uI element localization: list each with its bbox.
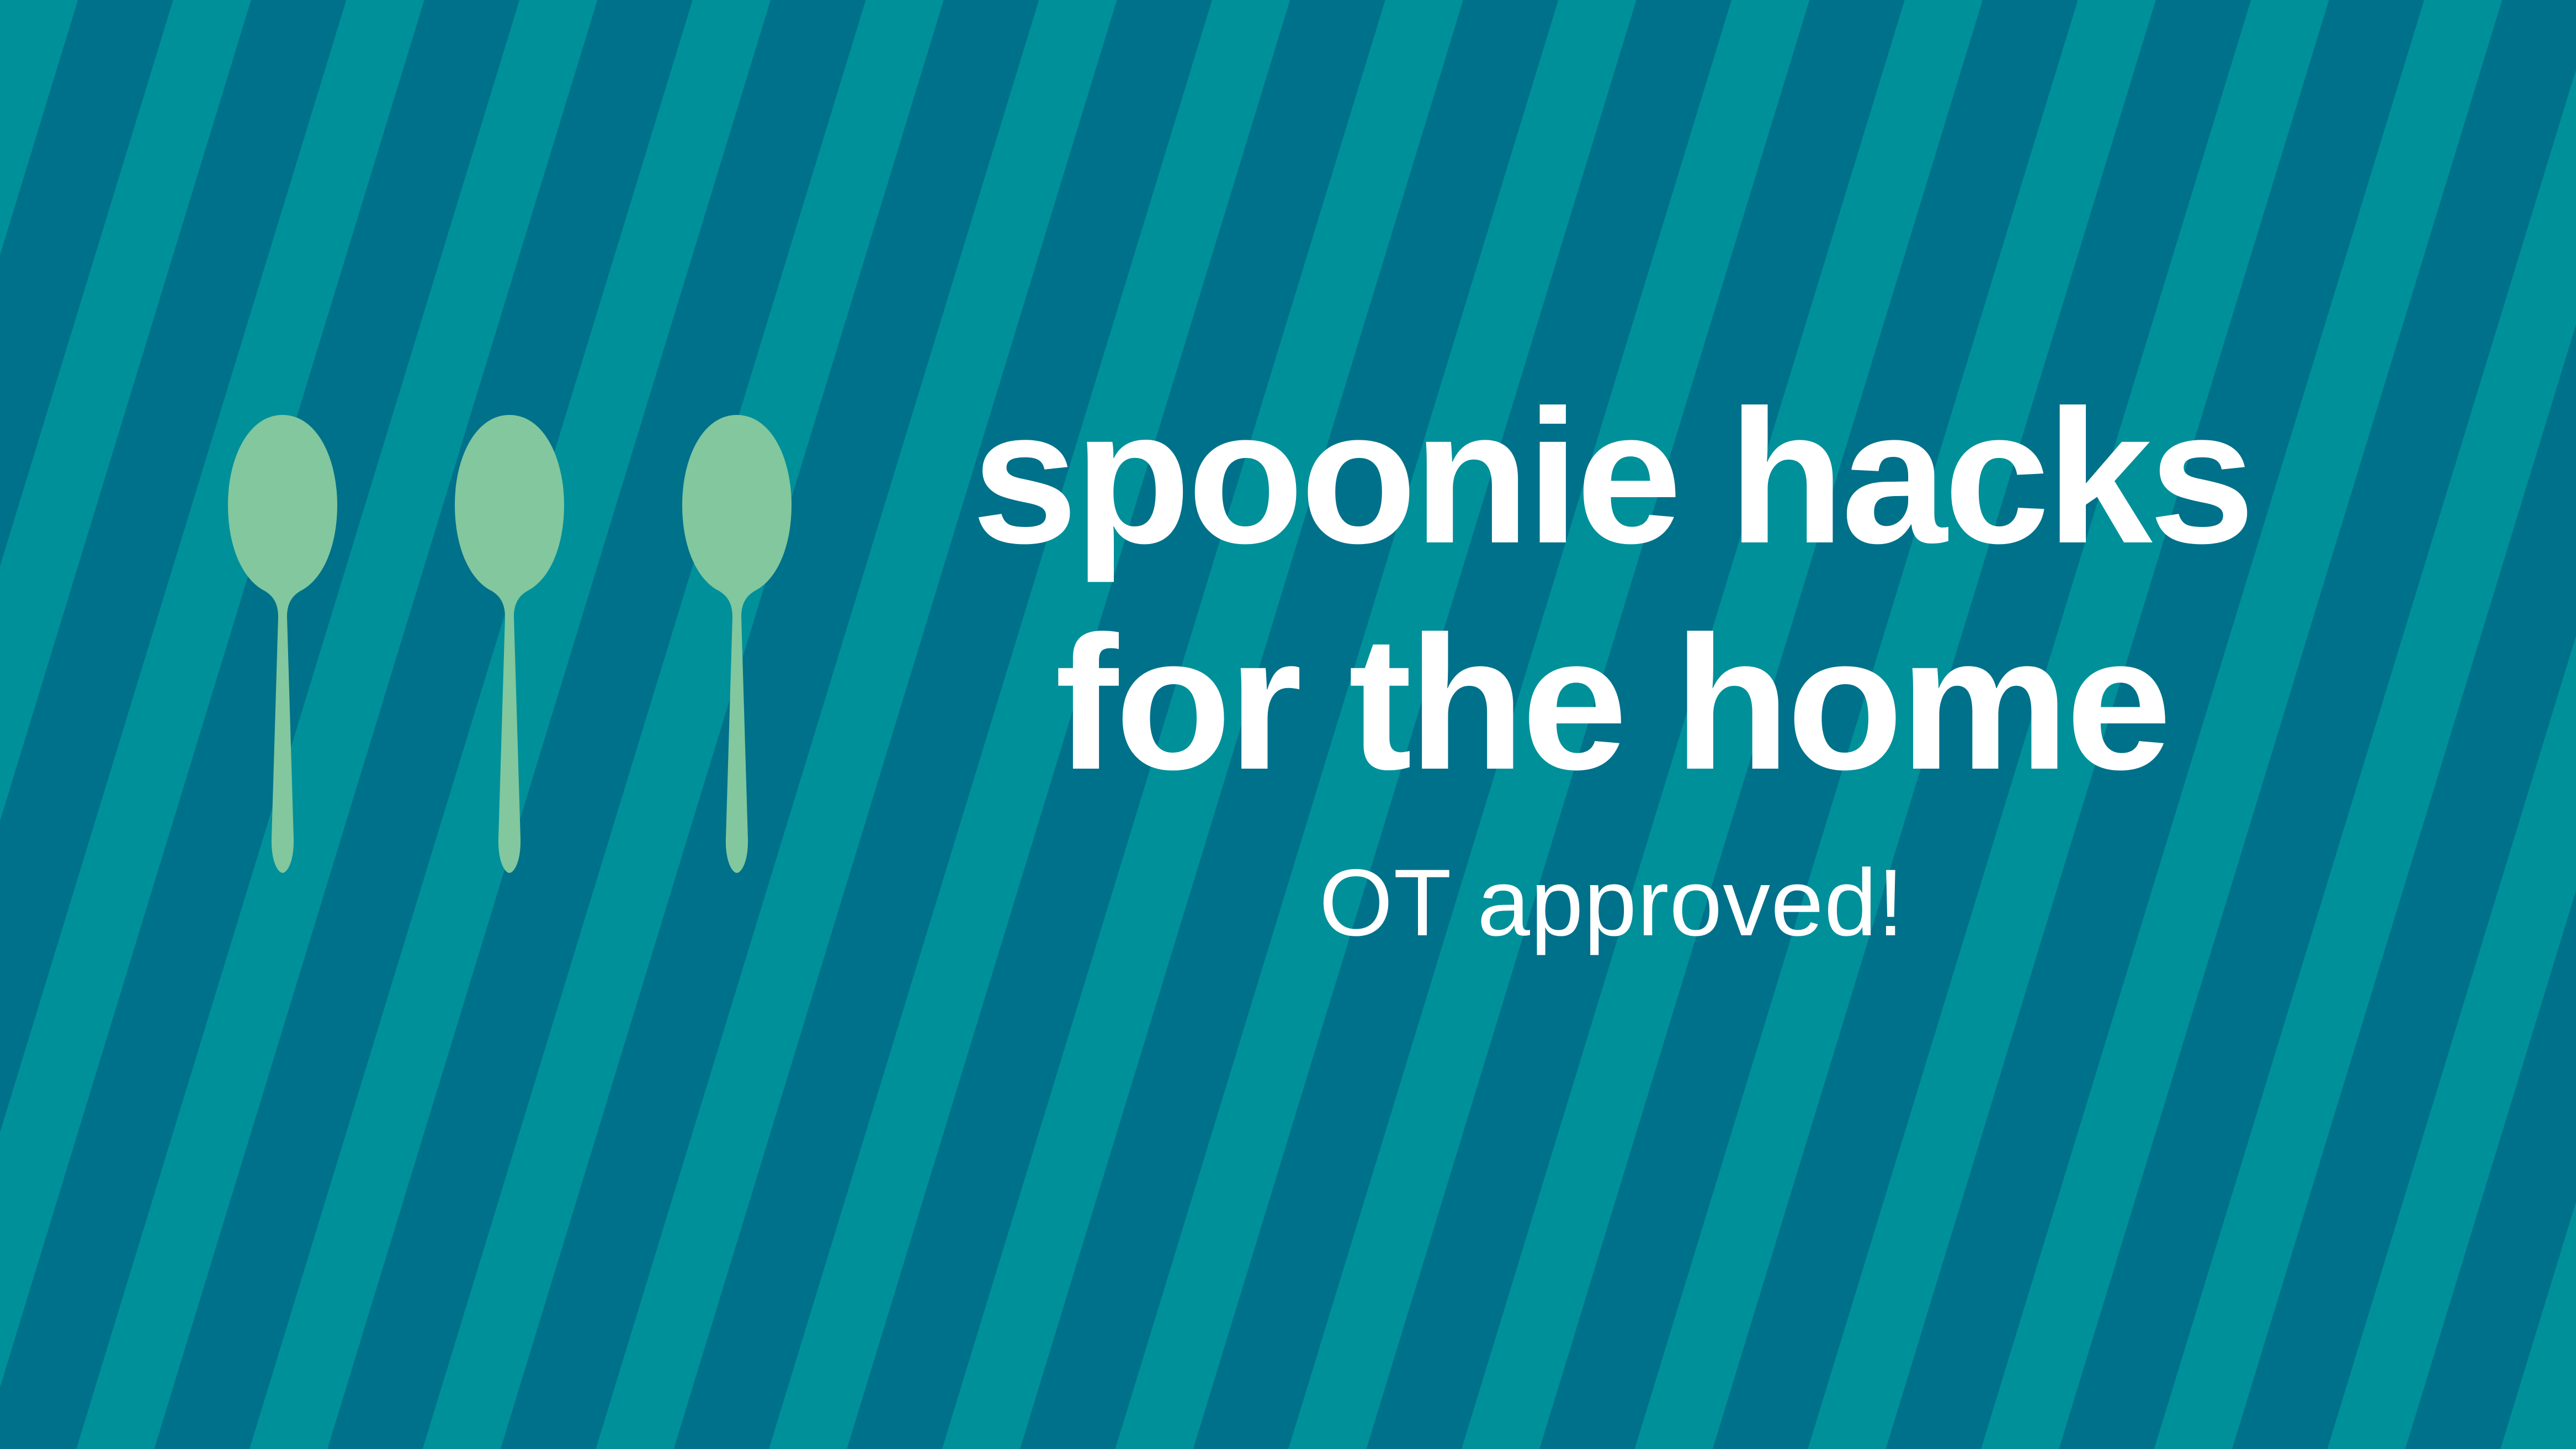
spoon-icon bbox=[455, 415, 564, 873]
subtitle-text: OT approved! bbox=[762, 853, 2462, 952]
headline-line-2: for the home bbox=[762, 590, 2462, 817]
three-spoons-graphic bbox=[210, 397, 828, 938]
graphic-canvas: spoonie hacks for the home OT approved! bbox=[0, 0, 2576, 1449]
spoon-icon bbox=[228, 415, 337, 873]
headline-line-1: spoonie hacks bbox=[762, 364, 2462, 590]
headline-block: spoonie hacks for the home OT approved! bbox=[762, 364, 2462, 952]
